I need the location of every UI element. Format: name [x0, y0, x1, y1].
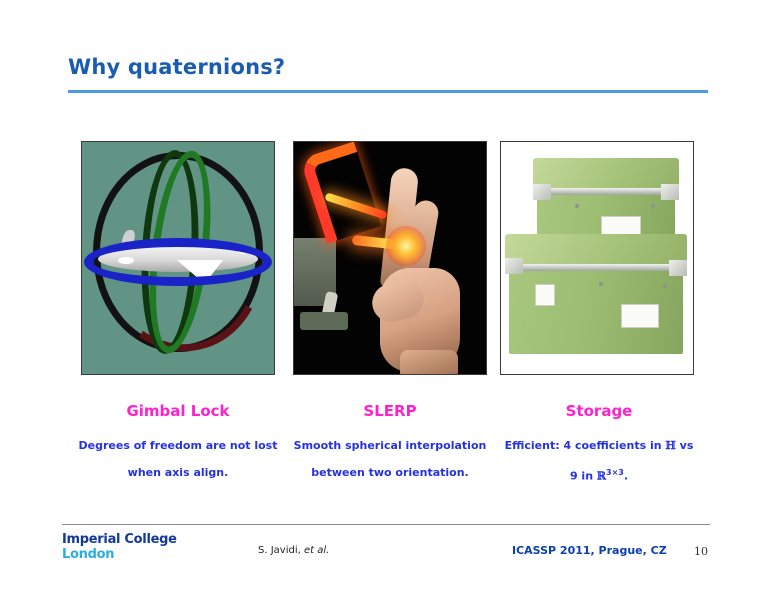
figure-gimbal — [81, 141, 275, 375]
imperial-college-logo: Imperial College London — [62, 532, 177, 562]
lower-box-metal-trim — [507, 264, 685, 271]
caption-line-2: 9 in ℝ3×3. — [481, 459, 717, 490]
slide-canvas: Why quaternions? TES — [0, 0, 776, 600]
caption-line-1-post: vs — [676, 439, 694, 452]
upper-box-stud-left — [575, 204, 579, 208]
title-underline-rule — [68, 90, 708, 93]
caption-line-2: between two orientation. — [272, 459, 508, 486]
lower-box-lid — [505, 234, 687, 268]
upper-box-lid — [533, 158, 679, 192]
figure-slerp: TES — [293, 141, 487, 375]
reals-symbol: ℝ — [597, 470, 606, 483]
lower-box-stud-right — [663, 284, 667, 288]
lower-box-label-plate — [621, 304, 659, 328]
background-object-b — [300, 312, 348, 330]
caption-line-2-pre: 9 in — [570, 470, 597, 483]
page-title: Why quaternions? — [68, 55, 285, 79]
lower-box-stud-left — [599, 282, 603, 286]
light-trail-glow — [386, 226, 426, 266]
caption-line-1: Efficient: 4 coefficients in ℍ vs — [481, 432, 717, 459]
author-name: S. Javidi, — [258, 545, 301, 556]
lower-box-label-side — [535, 284, 555, 306]
footer-conference: ICASSP 2011, Prague, CZ — [512, 544, 667, 557]
lower-box-corner-left — [505, 258, 523, 274]
caption-gimbal-lock: Gimbal Lock Degrees of freedom are not l… — [60, 402, 296, 486]
hand-photo — [360, 164, 476, 375]
caption-line-2-post: . — [624, 470, 628, 483]
figure-storage — [500, 141, 694, 375]
caption-storage: Storage Efficient: 4 coefficients in ℍ v… — [481, 402, 717, 490]
gimbal-blue-ring-icon — [84, 238, 272, 286]
caption-line-1: Degrees of freedom are not lost — [60, 432, 296, 459]
logo-line-1: Imperial College — [62, 532, 177, 547]
upper-box-corner-left — [533, 184, 551, 200]
upper-box-stud-right — [651, 204, 655, 208]
caption-line-1-pre: Efficient: 4 coefficients in — [505, 439, 666, 452]
footer-author: S. Javidi, et al. — [258, 545, 329, 556]
caption-slerp: SLERP Smooth spherical interpolation bet… — [272, 402, 508, 486]
figure-row: TES — [0, 141, 776, 377]
lower-box-corner-right — [669, 260, 687, 276]
caption-heading: Gimbal Lock — [60, 402, 296, 420]
storage-box-lower — [505, 234, 687, 354]
logo-line-2: London — [62, 547, 177, 562]
matrix-dimension-superscript: 3×3 — [606, 468, 624, 477]
quaternion-symbol: ℍ — [665, 439, 675, 452]
author-etal: et al. — [304, 545, 329, 556]
footer-separator — [62, 524, 710, 525]
caption-line-1: Smooth spherical interpolation — [272, 432, 508, 459]
upper-box-corner-right — [661, 184, 679, 200]
caption-heading: Storage — [481, 402, 717, 420]
page-number: 10 — [694, 545, 708, 558]
caption-line-2: when axis align. — [60, 459, 296, 486]
caption-heading: SLERP — [272, 402, 508, 420]
upper-box-metal-trim — [535, 188, 677, 195]
wrist — [400, 350, 458, 375]
